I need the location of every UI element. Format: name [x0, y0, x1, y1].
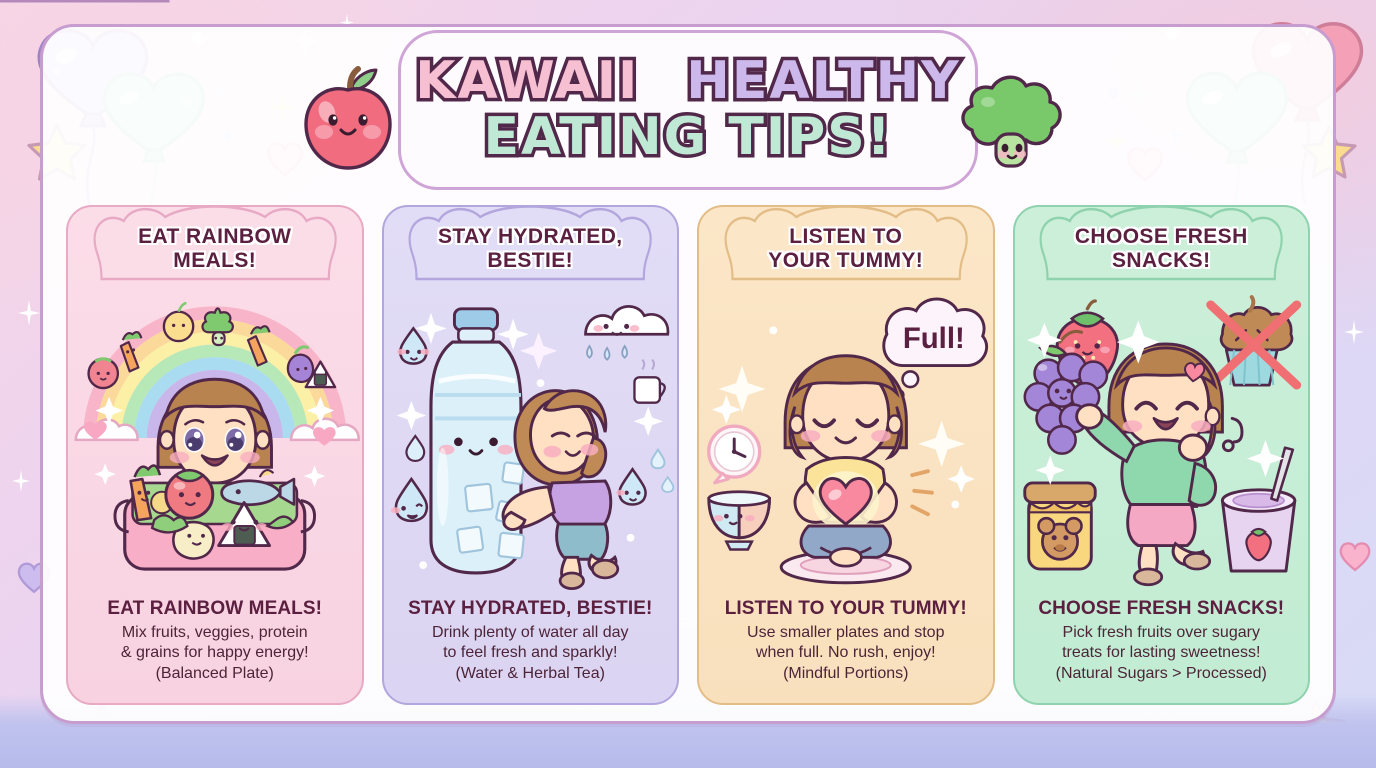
tomato-mini: [89, 358, 118, 387]
water-bottle-icon: [430, 309, 523, 573]
card-3-foot-line2: when full. No rush, enjoy!: [709, 643, 983, 664]
yogurt-cup-icon: [1222, 447, 1294, 570]
card-2-head-line1: STAY HYDRATED,: [438, 225, 623, 248]
sparkle-white-bottom-2: [1000, 732, 1016, 751]
title-kawaii: KAWAII: [415, 57, 639, 107]
card-4-foot-line1: Pick fresh fruits over sugary: [1025, 623, 1299, 644]
mug-icon: [634, 359, 664, 402]
droplet-top-left: [397, 328, 429, 363]
card-1-illustration: [68, 284, 362, 592]
dot-white-bottom-2: [520, 742, 529, 751]
card-1-footer: EAT RAINBOW MEALS! Mix fruits, veggies, …: [68, 592, 362, 703]
title-healthy: HEALTHY: [686, 57, 960, 107]
card-3-footer: LISTEN TO YOUR TUMMY! Use smaller plates…: [699, 592, 993, 703]
star-mint-bottom: [257, 727, 299, 767]
card-3-foot-title: LISTEN TO YOUR TUMMY!: [709, 598, 983, 620]
sparkle-white-right-mid: [1344, 320, 1364, 344]
star-yellow-bottomcenter: [1065, 722, 1107, 762]
card-3-illustration: Full!: [699, 284, 993, 592]
card-3-head-line1: LISTEN TO: [789, 225, 902, 248]
card-3-foot-line1: Use smaller plates and stop: [709, 623, 983, 644]
card-2-foot-line2: to feel fresh and sparkly!: [394, 643, 668, 664]
tip-card-listen-to-your-tummy[interactable]: LISTEN TO YOUR TUMMY! Full!: [697, 205, 995, 705]
rain-cloud-icon: [585, 306, 667, 359]
droplet-right: [616, 469, 645, 504]
heart-pink-right: [1338, 540, 1372, 576]
card-4-foot-line3: (Natural Sugars > Processed): [1025, 664, 1299, 685]
card-2-head-line2: BESTIE!: [487, 249, 573, 272]
card-2-foot-title: STAY HYDRATED, BESTIE!: [394, 598, 668, 620]
title-banner: KAWAII HEALTHY EATING TIPS!: [398, 30, 978, 190]
apple-icon: [300, 64, 396, 175]
card-2-foot-line1: Drink plenty of water all day: [394, 623, 668, 644]
card-4-foot-line2: treats for lasting sweetness!: [1025, 643, 1299, 664]
card-4-head-line2: SNACKS!: [1112, 249, 1210, 272]
sparkle-white-left-mid: [18, 300, 40, 326]
bowl-icon: [709, 491, 770, 549]
cloud-bottom-right: [0, 0, 8, 6]
card-4-illustration: [1015, 284, 1309, 592]
honey-jar-icon: [1024, 483, 1094, 569]
sparkle-white-bottom: [346, 726, 364, 748]
card-1-foot-line1: Mix fruits, veggies, protein: [78, 623, 352, 644]
tips-card-row: EAT RAINBOW MEALS!: [66, 205, 1310, 705]
card-3-head-line2: YOUR TUMMY!: [768, 249, 923, 272]
clock-icon: [709, 426, 760, 483]
card-4-footer: CHOOSE FRESH SNACKS! Pick fresh fruits o…: [1015, 592, 1309, 703]
card-4-foot-title: CHOOSE FRESH SNACKS!: [1025, 598, 1299, 620]
orange-mini: [164, 303, 193, 341]
card-2-footer: STAY HYDRATED, BESTIE! Drink plenty of w…: [384, 592, 678, 703]
card-4-head-line1: CHOOSE FRESH: [1075, 225, 1248, 248]
card-4-heading: CHOOSE FRESH SNACKS!: [1015, 207, 1309, 284]
cloud-bottom-left: [0, 0, 250, 6]
card-2-heading: STAY HYDRATED, BESTIE!: [384, 207, 678, 284]
droplet-bottom-left: [390, 479, 426, 521]
card-2-foot-line3: (Water & Herbal Tea): [394, 664, 668, 685]
tip-card-choose-fresh-snacks[interactable]: CHOOSE FRESH SNACKS!: [1013, 205, 1311, 705]
tip-card-eat-rainbow-meals[interactable]: EAT RAINBOW MEALS!: [66, 205, 364, 705]
broccoli-icon: [952, 44, 1072, 179]
card-2-illustration: [384, 284, 678, 592]
cupcake-crossed-out-icon: [1210, 297, 1296, 385]
card-1-head-line2: MEALS!: [173, 249, 256, 272]
tip-card-stay-hydrated-bestie[interactable]: STAY HYDRATED, BESTIE!: [382, 205, 680, 705]
card-3-heading: LISTEN TO YOUR TUMMY!: [699, 207, 993, 284]
card-1-foot-line2: & grains for happy energy!: [78, 643, 352, 664]
card-3-foot-line3: (Mindful Portions): [709, 664, 983, 685]
sparkle-white-left-low: [12, 470, 30, 492]
title-eating-tips: EATING TIPS!: [484, 113, 893, 163]
card-1-foot-title: EAT RAINBOW MEALS!: [78, 598, 352, 620]
card-1-head-line1: EAT RAINBOW: [138, 225, 291, 248]
droplet-small-left: [406, 436, 424, 461]
girl-figure-1: [158, 379, 271, 483]
dot-white-bottom: [320, 736, 331, 749]
card-1-foot-line3: (Balanced Plate): [78, 664, 352, 685]
card-1-heading: EAT RAINBOW MEALS!: [68, 207, 362, 284]
thought-bubble-text: Full!: [903, 322, 965, 355]
